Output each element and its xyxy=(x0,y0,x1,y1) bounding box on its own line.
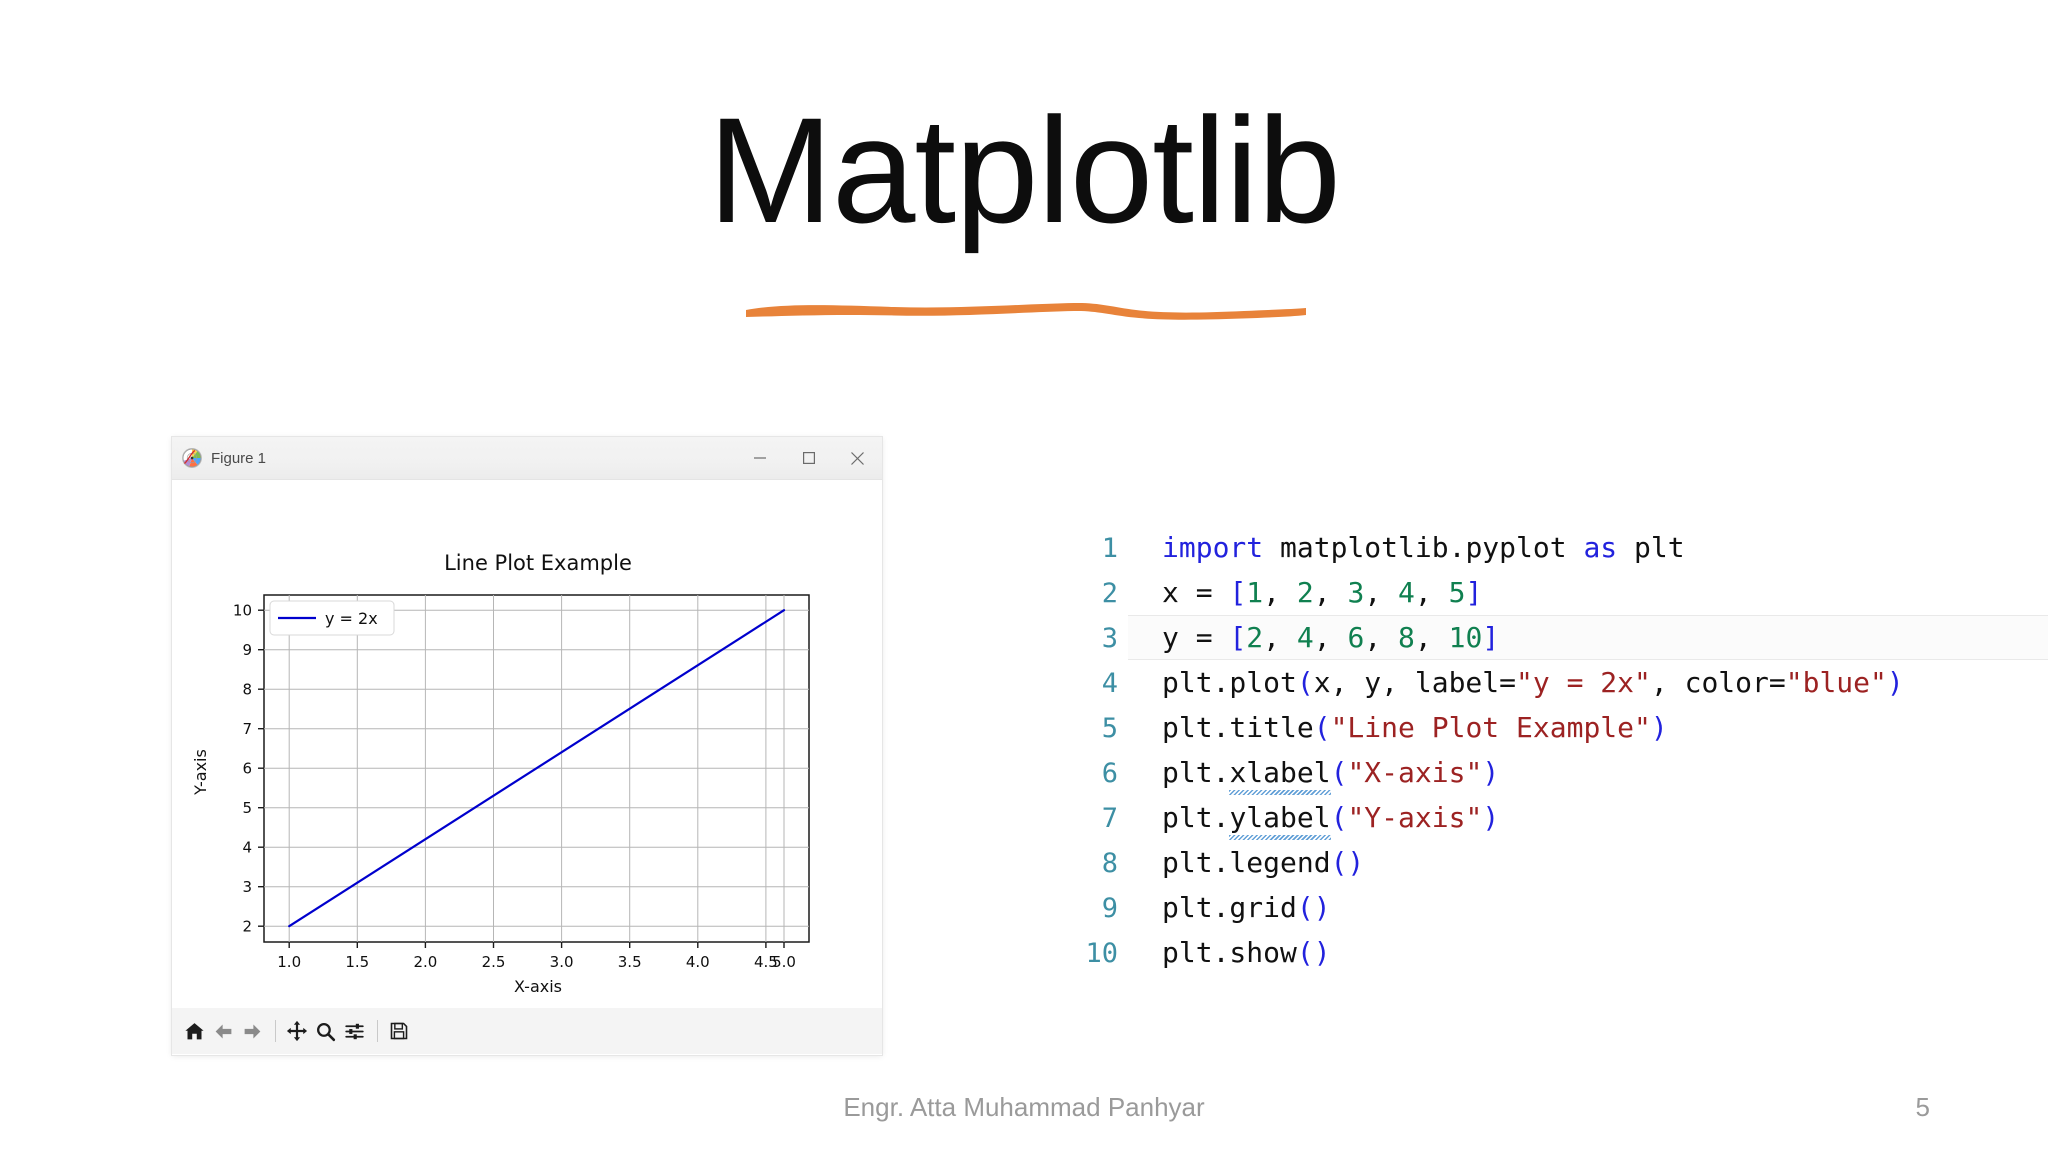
code-line[interactable]: 7 plt.ylabel("Y-axis") xyxy=(1040,795,2048,840)
x-axis-label: X-axis xyxy=(514,977,562,996)
chart-legend[interactable]: y = 2x xyxy=(270,601,394,635)
window-titlebar[interactable]: Figure 1 xyxy=(172,437,882,480)
line-plot: Line Plot Example xyxy=(172,480,882,1008)
floppy-disk-save-icon xyxy=(389,1021,409,1041)
x-tick-label: 2.0 xyxy=(413,953,437,971)
sliders-icon xyxy=(344,1021,365,1042)
footer-page-number: 5 xyxy=(1916,1092,1930,1123)
y-tick-label: 6 xyxy=(242,760,252,778)
figure-canvas[interactable]: Line Plot Example xyxy=(172,480,882,1008)
y-tick-label: 2 xyxy=(242,918,252,936)
footer-author: Engr. Atta Muhammad Panhyar xyxy=(0,1092,2048,1123)
code-line-text: plt.plot(x, y, label="y = 2x", color="bl… xyxy=(1118,660,1904,705)
code-line-text: plt.title("Line Plot Example") xyxy=(1118,705,1668,750)
arrow-left-icon xyxy=(213,1021,234,1042)
x-tick-label: 3.0 xyxy=(550,953,574,971)
code-line[interactable]: 9 plt.grid() xyxy=(1040,885,2048,930)
code-line[interactable]: 2 x = [1, 2, 3, 4, 5] xyxy=(1040,570,2048,615)
y-tick-label: 7 xyxy=(242,720,252,738)
code-line-text: plt.show() xyxy=(1118,930,1331,975)
line-number: 5 xyxy=(1040,706,1118,751)
code-line-text: y = [2, 4, 6, 8, 10] xyxy=(1118,615,1499,660)
zoom-button[interactable] xyxy=(312,1016,339,1046)
spellcheck-underline: ylabel xyxy=(1229,801,1330,834)
minimize-button[interactable] xyxy=(735,437,784,479)
line-number: 3 xyxy=(1040,616,1118,661)
home-icon xyxy=(184,1021,205,1042)
code-line[interactable]: 6 plt.xlabel("X-axis") xyxy=(1040,750,2048,795)
x-tick-label: 1.0 xyxy=(277,953,301,971)
y-tick-label: 4 xyxy=(242,839,252,857)
y-axis-label: Y-axis xyxy=(191,749,210,796)
move-cross-icon xyxy=(286,1020,308,1042)
y-tick-label: 9 xyxy=(242,641,252,659)
chart-title: Line Plot Example xyxy=(444,551,632,575)
spellcheck-underline: xlabel xyxy=(1229,756,1330,789)
code-line[interactable]: 5 plt.title("Line Plot Example") xyxy=(1040,705,2048,750)
code-line-text: plt.legend() xyxy=(1118,840,1364,885)
line-number: 10 xyxy=(1040,931,1118,976)
line-number: 6 xyxy=(1040,751,1118,796)
toolbar-separator xyxy=(377,1020,378,1042)
y-tick-label: 8 xyxy=(242,681,252,699)
x-tick-label: 1.5 xyxy=(345,953,369,971)
line-number: 9 xyxy=(1040,886,1118,931)
arrow-right-icon xyxy=(242,1021,263,1042)
x-tick-label: 2.5 xyxy=(482,953,506,971)
y-tick-label: 10 xyxy=(233,602,252,620)
minimize-icon xyxy=(753,451,767,465)
maximize-button[interactable] xyxy=(784,437,833,479)
save-button[interactable] xyxy=(385,1016,412,1046)
slide-canvas: Matplotlib Figure 1 xyxy=(0,0,2048,1152)
line-number: 4 xyxy=(1040,661,1118,706)
toolbar-separator xyxy=(275,1020,276,1042)
maximize-icon xyxy=(802,451,816,465)
x-tick-label: 5.0 xyxy=(772,953,796,971)
configure-subplots-button[interactable] xyxy=(341,1016,368,1046)
page-title: Matplotlib xyxy=(0,95,2048,245)
forward-button[interactable] xyxy=(239,1016,266,1046)
matplotlib-figure-window[interactable]: Figure 1 xyxy=(172,437,882,1055)
code-listing[interactable]: 1 import matplotlib.pyplot as plt 2 x = … xyxy=(1040,525,2048,975)
line-number: 8 xyxy=(1040,841,1118,886)
line-number: 7 xyxy=(1040,796,1118,841)
window-title-text: Figure 1 xyxy=(211,450,266,467)
code-line-text: x = [1, 2, 3, 4, 5] xyxy=(1118,570,1482,615)
code-line-current[interactable]: 3 y = [2, 4, 6, 8, 10] xyxy=(1040,615,2048,660)
home-button[interactable] xyxy=(181,1016,208,1046)
code-line[interactable]: 8 plt.legend() xyxy=(1040,840,2048,885)
close-button[interactable] xyxy=(833,437,882,479)
code-line[interactable]: 4 plt.plot(x, y, label="y = 2x", color="… xyxy=(1040,660,2048,705)
code-line[interactable]: 10 plt.show() xyxy=(1040,930,2048,975)
pan-button[interactable] xyxy=(283,1016,310,1046)
y-tick-label: 3 xyxy=(242,878,252,896)
legend-label: y = 2x xyxy=(325,609,378,628)
back-button[interactable] xyxy=(210,1016,237,1046)
line-number: 2 xyxy=(1040,571,1118,616)
code-line-text: plt.grid() xyxy=(1118,885,1331,930)
code-line-text: import matplotlib.pyplot as plt xyxy=(1118,525,1685,570)
magnifier-icon xyxy=(315,1021,336,1042)
window-controls xyxy=(735,437,882,479)
title-underline-brushstroke xyxy=(744,296,1308,322)
code-line-text: plt.ylabel("Y-axis") xyxy=(1118,795,1499,840)
close-icon xyxy=(850,451,865,466)
code-line[interactable]: 1 import matplotlib.pyplot as plt xyxy=(1040,525,2048,570)
matplotlib-navigation-toolbar[interactable] xyxy=(172,1008,882,1054)
x-tick-label: 4.0 xyxy=(686,953,710,971)
x-tick-label: 3.5 xyxy=(618,953,642,971)
matplotlib-logo-icon xyxy=(181,447,203,469)
code-line-text: plt.xlabel("X-axis") xyxy=(1118,750,1499,795)
y-tick-label: 5 xyxy=(242,799,252,817)
line-number: 1 xyxy=(1040,526,1118,571)
